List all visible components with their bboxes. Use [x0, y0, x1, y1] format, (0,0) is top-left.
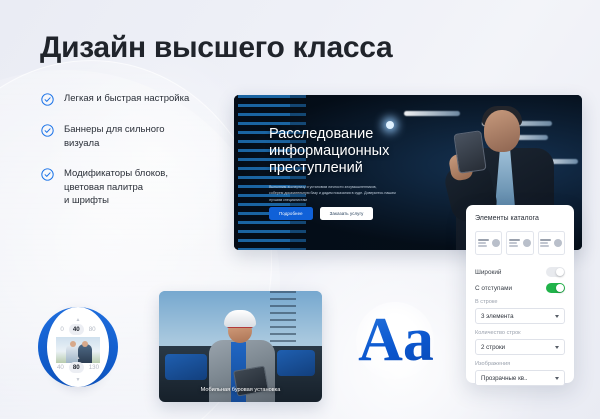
- chevron-up-icon-bottom[interactable]: ▲: [38, 356, 118, 361]
- check-circle-icon: [41, 168, 54, 181]
- field-per-row: В строке 3 элемента: [475, 299, 565, 324]
- check-circle-icon: [41, 93, 54, 106]
- feature-label: Модификаторы блоков, цветовая палитра и …: [64, 167, 168, 208]
- banner-button-group: Подробнее Заказать услугу: [269, 207, 373, 220]
- toggle-label-wide: Широкий: [475, 269, 501, 276]
- banner-primary-button[interactable]: Подробнее: [269, 207, 313, 220]
- select-per-row[interactable]: 3 элемента: [475, 308, 565, 324]
- rig-equipment-right: [277, 350, 315, 376]
- select-value-images: Прозрачные кв..: [481, 375, 528, 382]
- preset-lines-icon: [478, 239, 489, 247]
- toggle-wide[interactable]: [546, 267, 565, 277]
- banner-secondary-button[interactable]: Заказать услугу: [320, 207, 374, 220]
- chevron-up-icon[interactable]: ▲: [38, 318, 118, 323]
- layout-preset-row: [475, 231, 565, 255]
- layout-preset-option-1[interactable]: [475, 231, 502, 255]
- preset-circle-icon: [554, 239, 562, 247]
- promo-slide: Дизайн высшего класса Легкая и быстрая н…: [0, 0, 600, 419]
- banner-title: Расследование информационных преступлени…: [269, 126, 474, 177]
- page-title: Дизайн высшего класса: [40, 31, 392, 65]
- field-label-per-row: В строке: [475, 299, 565, 305]
- catalog-settings-panel: Элементы каталога Широкий С отступами: [466, 205, 574, 383]
- select-row-count[interactable]: 2 строки: [475, 339, 565, 355]
- banner-subtitle: Выполним экспертизу и установим личности…: [269, 184, 474, 203]
- picker-value-selected-bottom[interactable]: 80: [69, 362, 84, 373]
- picker-value-left[interactable]: 0: [60, 326, 63, 333]
- rig-caption: Мобильная буровая установка: [159, 387, 322, 393]
- field-label-images: Изображения: [475, 361, 565, 367]
- feature-label: Легкая и быстрая настройка: [64, 92, 189, 106]
- toggle-row-wide: Широкий: [475, 267, 565, 277]
- toggle-row-padding: С отступами: [475, 283, 565, 293]
- preset-lines-icon: [540, 239, 551, 247]
- size-picker-widget: ▲ 0 40 80 ▼ ▲ 40 80 130 ▼: [38, 307, 118, 387]
- layout-preset-option-2[interactable]: [506, 231, 533, 255]
- field-row-count: Количество строк 2 строки: [475, 330, 565, 355]
- picker-value-right-bottom[interactable]: 130: [89, 364, 99, 371]
- picker-value-right[interactable]: 80: [89, 326, 96, 333]
- picker-row-bottom: 40 80 130: [38, 362, 118, 373]
- toggle-padding[interactable]: [546, 283, 565, 293]
- chevron-down-icon: [555, 346, 559, 349]
- picker-row-top: 0 40 80: [38, 324, 118, 335]
- typography-card: Aa: [340, 296, 452, 396]
- feature-list: Легкая и быстрая настройка Баннеры для с…: [41, 92, 226, 225]
- preset-lines-icon: [509, 239, 520, 247]
- picker-value-selected-top[interactable]: 40: [69, 324, 84, 335]
- field-images: Изображения Прозрачные кв..: [475, 361, 565, 386]
- toggle-knob: [556, 284, 564, 292]
- list-item: Легкая и быстрая настройка: [41, 92, 226, 106]
- panel-title: Элементы каталога: [475, 215, 565, 222]
- select-value-per-row: 3 элемента: [481, 313, 514, 320]
- field-label-row-count: Количество строк: [475, 330, 565, 336]
- rig-equipment-left: [165, 354, 207, 380]
- rig-photo-card[interactable]: Мобильная буровая установка: [159, 291, 322, 402]
- select-value-row-count: 2 строки: [481, 344, 505, 351]
- layout-preset-option-3[interactable]: [538, 231, 565, 255]
- toggle-label-padding: С отступами: [475, 285, 512, 292]
- list-item: Модификаторы блоков, цветовая палитра и …: [41, 167, 226, 208]
- check-circle-icon: [41, 124, 54, 137]
- list-item: Баннеры для сильного визуала: [41, 123, 226, 150]
- typography-sample: Aa: [340, 304, 452, 376]
- preset-circle-icon: [523, 239, 531, 247]
- chevron-down-icon-bottom[interactable]: ▼: [38, 378, 118, 383]
- select-images[interactable]: Прозрачные кв..: [475, 370, 565, 386]
- toggle-knob: [556, 268, 564, 276]
- banner-copy: Расследование информационных преступлени…: [269, 126, 474, 203]
- picker-value-left-bottom[interactable]: 40: [57, 364, 64, 371]
- feature-label: Баннеры для сильного визуала: [64, 123, 165, 150]
- chevron-down-icon: [555, 315, 559, 318]
- preset-circle-icon: [492, 239, 500, 247]
- chevron-down-icon: [555, 377, 559, 380]
